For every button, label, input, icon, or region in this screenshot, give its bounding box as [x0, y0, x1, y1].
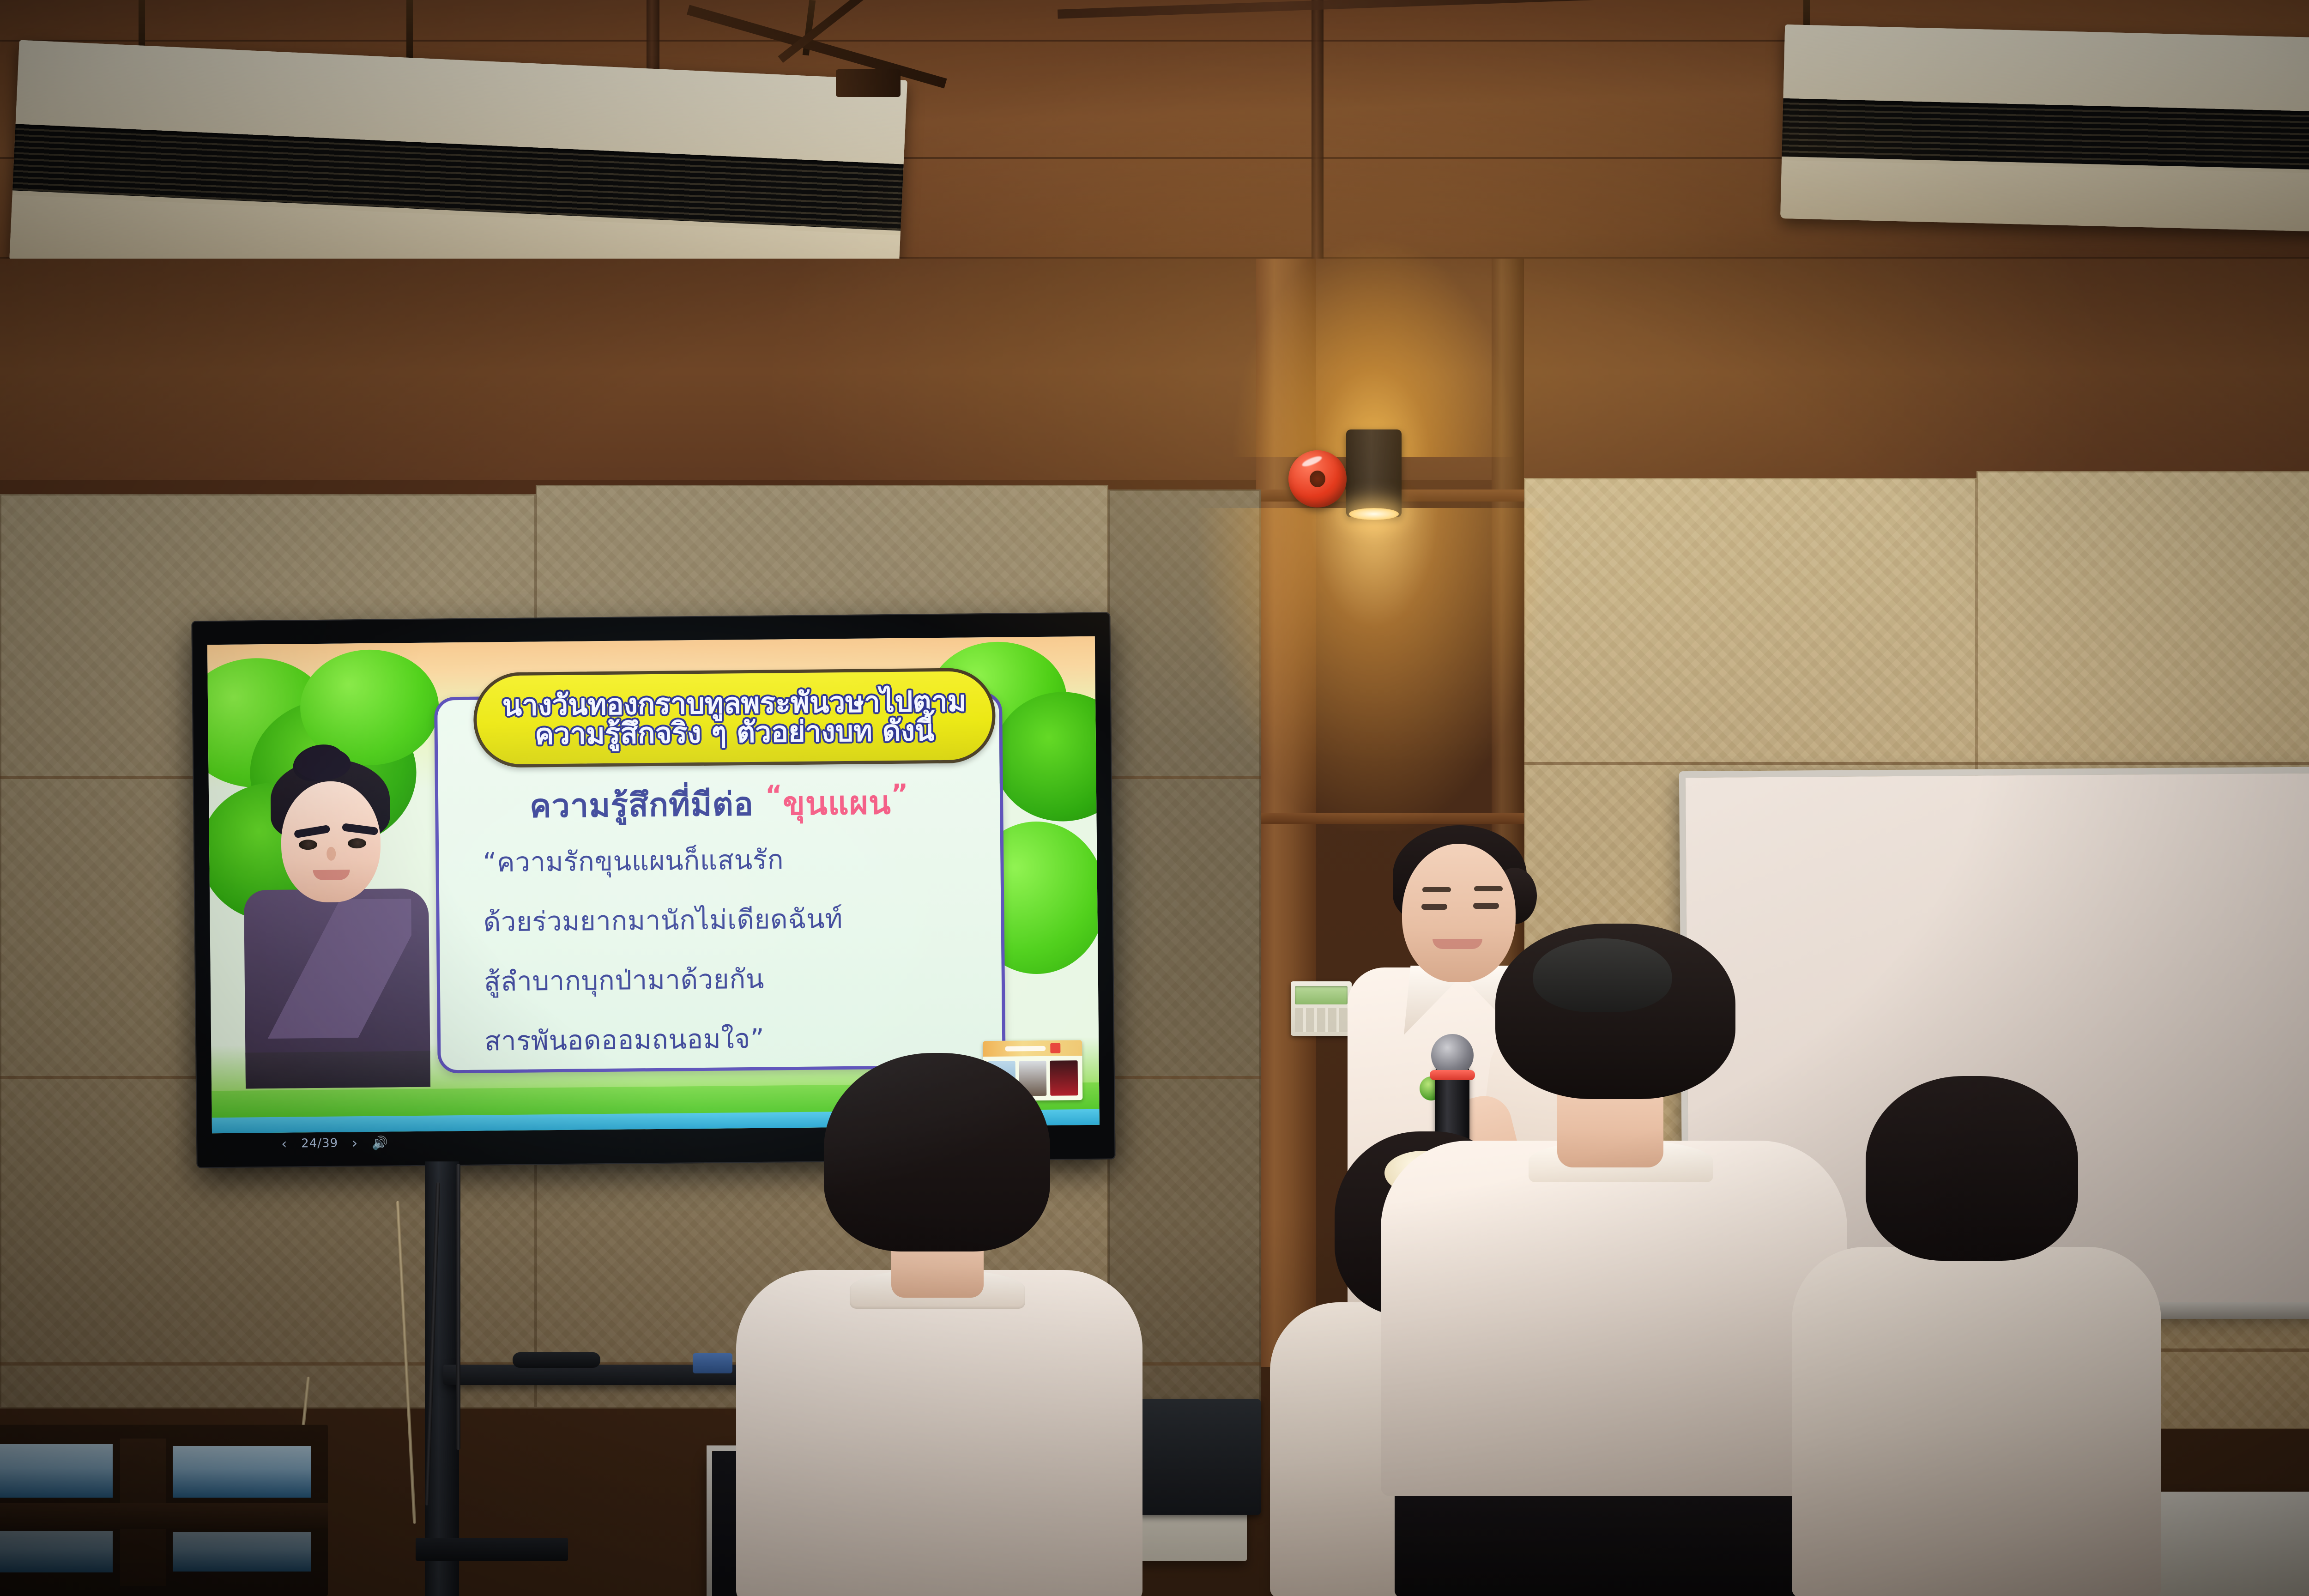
- student-right-hair: [1866, 1076, 2078, 1261]
- student-left: [711, 1053, 1164, 1596]
- poem-line: สู้ลำบากบุกป่ามาด้วยกัน: [484, 955, 996, 1003]
- window-mullion: [0, 1503, 328, 1529]
- character-mouth: [313, 870, 350, 880]
- window-frame: [0, 1425, 328, 1596]
- student-left-torso: [736, 1270, 1142, 1596]
- student-center: [1367, 924, 1856, 1596]
- presenter-eyebrow: [1474, 886, 1503, 891]
- poem-line: “ความรักขุนแผนก็แสนรัก: [483, 836, 995, 884]
- window-pane: [0, 1444, 113, 1498]
- wall-panel-seam: [1524, 762, 2309, 765]
- bell-highlight: [1301, 454, 1323, 468]
- power-cable: [456, 1164, 460, 1450]
- presenter-eye: [1473, 903, 1499, 909]
- next-page-icon[interactable]: ›: [352, 1135, 358, 1151]
- slide-poem: “ความรักขุนแผนก็แสนรัก ด้วยร่วมยากมานักไ…: [454, 836, 997, 1063]
- ac-hanger-rod: [406, 0, 413, 65]
- student-left-hair: [824, 1053, 1050, 1251]
- previous-page-icon[interactable]: ‹: [281, 1136, 287, 1152]
- wall-sconce-assembly: [1346, 429, 1406, 522]
- student-right: [1792, 1076, 2161, 1596]
- slide-banner: นางวันทองกราบทูลพระพันวษาไปตาม ความรู้สึ…: [473, 668, 996, 768]
- slide-banner-line-2: ความรู้สึกจริง ๆ ตัวอย่างบท ดังนี้: [535, 716, 935, 749]
- khun-phaen-character: [226, 736, 446, 1088]
- student-center-torso: [1381, 1141, 1847, 1496]
- window-pane: [173, 1532, 311, 1572]
- ac-top-panel: [1783, 24, 2309, 110]
- thumbnail-title-pill: [1005, 1046, 1046, 1051]
- window-pane: [173, 1446, 311, 1498]
- air-conditioner-right: [1780, 24, 2309, 234]
- slide-subtitle-prefix: ความรู้สึกที่มีต่อ: [529, 785, 754, 825]
- student-center-hair-ribbon: [1533, 938, 1672, 1012]
- thumbnail-badge: [1050, 1043, 1060, 1053]
- student-right-torso: [1792, 1247, 2161, 1596]
- character-face: [281, 781, 381, 903]
- slide-subtitle-highlight: ขุนแผน: [783, 784, 891, 822]
- sconce-bulb: [1349, 508, 1399, 520]
- presenter-eye: [1421, 904, 1447, 910]
- volume-icon[interactable]: 🔊: [372, 1135, 388, 1150]
- slide-subtitle: ความรู้สึกที่มีต่อ “ขุนแผน”: [435, 776, 1003, 833]
- presenter-eyebrow: [1422, 887, 1451, 892]
- poem-line: ด้วยร่วมยากมานักไม่เดียดฉันท์: [483, 895, 995, 943]
- window-pane: [0, 1531, 113, 1572]
- ac-vent-grille: [1782, 98, 2309, 172]
- projector-mount-bracket: [836, 69, 901, 97]
- classroom-scene: นางวันทองกราบทูลพระพันวษาไปตาม ความรู้สึ…: [0, 0, 2309, 1596]
- fire-alarm-bell: [1288, 450, 1347, 508]
- wall-sconce-light: [1346, 429, 1402, 517]
- ceiling-beam: [1312, 0, 1324, 259]
- character-belt: [245, 1051, 430, 1089]
- tv-stand-foot: [416, 1538, 568, 1561]
- tv-remote-control[interactable]: [513, 1352, 600, 1368]
- slide-subtitle-close-quote: ”: [891, 779, 908, 809]
- page-counter: 24/39: [301, 1137, 338, 1151]
- character-nose: [326, 847, 336, 861]
- character-sash: [259, 899, 412, 1039]
- slide-subtitle-open-quote: “: [765, 780, 783, 810]
